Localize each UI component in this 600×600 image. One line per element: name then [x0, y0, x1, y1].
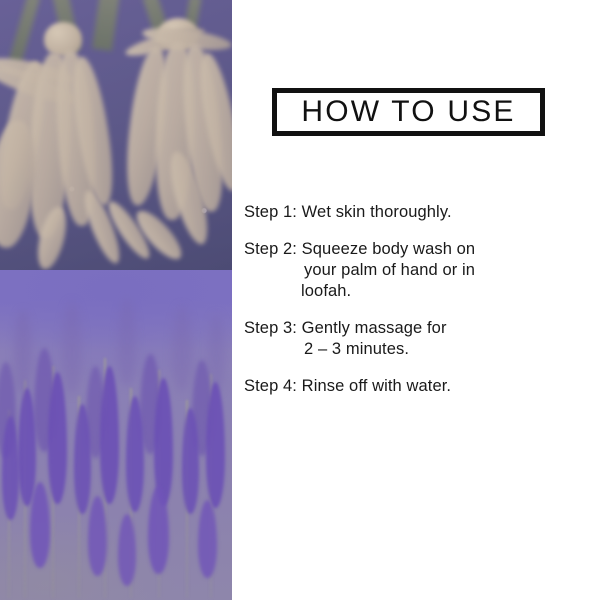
- image-column: [0, 0, 232, 600]
- step-3-line-2: 2 – 3 minutes.: [244, 339, 594, 360]
- how-to-use-infographic: HOW TO USE Step 1: Wet skin thoroughly. …: [0, 0, 600, 600]
- step-2-line-2: your palm of hand or in: [244, 260, 594, 281]
- lavender-field-photo: [0, 270, 232, 600]
- step-3-line-1: Step 3: Gently massage for: [244, 318, 594, 339]
- ylang-ylang-flowers-photo: [0, 0, 232, 270]
- step-1-line-1: Step 1: Wet skin thoroughly.: [244, 202, 594, 223]
- step-4-line-1: Step 4: Rinse off with water.: [244, 376, 594, 397]
- step-2-line-1: Step 2: Squeeze body wash on: [244, 239, 594, 260]
- step-item-2: Step 2: Squeeze body wash on your palm o…: [244, 239, 594, 302]
- step-2-line-3: loofah.: [244, 281, 594, 302]
- step-item-4: Step 4: Rinse off with water.: [244, 376, 594, 397]
- page-title: HOW TO USE: [301, 97, 515, 127]
- steps-list: Step 1: Wet skin thoroughly. Step 2: Squ…: [244, 202, 594, 413]
- step-item-1: Step 1: Wet skin thoroughly.: [244, 202, 594, 223]
- content-column: HOW TO USE Step 1: Wet skin thoroughly. …: [232, 0, 600, 600]
- step-item-3: Step 3: Gently massage for 2 – 3 minutes…: [244, 318, 594, 360]
- page-title-box: HOW TO USE: [272, 88, 545, 136]
